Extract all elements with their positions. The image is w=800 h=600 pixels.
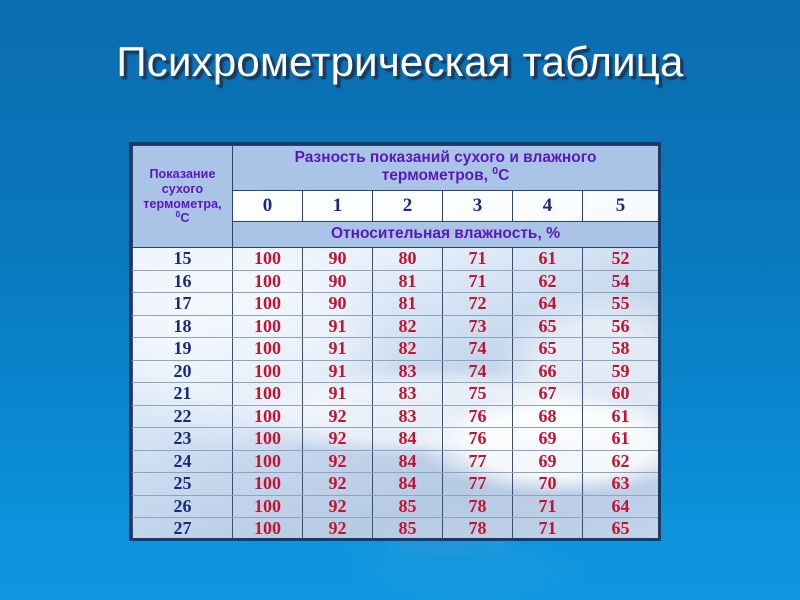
cell-humidity-value: 77 bbox=[443, 450, 513, 473]
cell-humidity-value: 58 bbox=[583, 338, 659, 361]
cell-humidity-value: 71 bbox=[443, 248, 513, 271]
cell-humidity-value: 75 bbox=[443, 383, 513, 406]
degree-symbol: 0 bbox=[176, 209, 181, 219]
span-line-1: Разность показаний сухого и влажного bbox=[239, 149, 652, 167]
cell-humidity-value: 76 bbox=[443, 405, 513, 428]
table-row: 191009182746558 bbox=[133, 338, 659, 361]
cell-humidity-value: 100 bbox=[233, 495, 303, 518]
cell-humidity-value: 74 bbox=[443, 360, 513, 383]
cell-humidity-value: 64 bbox=[513, 293, 583, 316]
cell-humidity-value: 71 bbox=[513, 518, 583, 541]
header-thermometer-difference: Разность показаний сухого и влажного тер… bbox=[233, 146, 659, 191]
cell-humidity-value: 59 bbox=[583, 360, 659, 383]
spacer-cell bbox=[233, 540, 303, 541]
cell-humidity-value: 84 bbox=[373, 428, 443, 451]
header-dry-thermometer-reading: Показание сухого термометра, 0С bbox=[133, 146, 233, 248]
cell-dry-temperature: 18 bbox=[133, 315, 233, 338]
cell-humidity-value: 52 bbox=[583, 248, 659, 271]
cell-humidity-value: 65 bbox=[513, 315, 583, 338]
psychrometric-table-frame: Показание сухого термометра, 0С Разность… bbox=[129, 142, 661, 541]
cell-humidity-value: 100 bbox=[233, 473, 303, 496]
cell-humidity-value: 90 bbox=[303, 270, 373, 293]
cell-dry-temperature: 19 bbox=[133, 338, 233, 361]
cell-humidity-value: 71 bbox=[443, 270, 513, 293]
table-row: 271009285787165 bbox=[133, 518, 659, 541]
cell-humidity-value: 92 bbox=[303, 495, 373, 518]
column-header-4: 4 bbox=[513, 190, 583, 221]
cell-humidity-value: 100 bbox=[233, 270, 303, 293]
corner-line-1: Показание bbox=[137, 167, 228, 182]
cell-dry-temperature: 25 bbox=[133, 473, 233, 496]
cell-humidity-value: 92 bbox=[303, 518, 373, 541]
cell-humidity-value: 65 bbox=[513, 338, 583, 361]
cell-dry-temperature: 24 bbox=[133, 450, 233, 473]
table-row: 171009081726455 bbox=[133, 293, 659, 316]
cell-humidity-value: 61 bbox=[583, 405, 659, 428]
cell-humidity-value: 91 bbox=[303, 360, 373, 383]
cell-humidity-value: 70 bbox=[513, 473, 583, 496]
percent-symbol: % bbox=[546, 225, 560, 242]
table-row: 211009183756760 bbox=[133, 383, 659, 406]
column-header-5: 5 bbox=[583, 190, 659, 221]
spacer-cell bbox=[133, 540, 233, 541]
cell-humidity-value: 78 bbox=[443, 495, 513, 518]
cell-humidity-value: 83 bbox=[373, 360, 443, 383]
corner-line-3: термометра, bbox=[137, 197, 228, 212]
cell-humidity-value: 76 bbox=[443, 428, 513, 451]
table-row: 241009284776962 bbox=[133, 450, 659, 473]
corner-line-2: сухого bbox=[137, 182, 228, 197]
column-header-1: 1 bbox=[303, 190, 373, 221]
cell-humidity-value: 84 bbox=[373, 473, 443, 496]
header-relative-humidity: Относительная влажность, % bbox=[233, 221, 659, 248]
span-line-2: термометров, 0С bbox=[239, 167, 652, 185]
cell-humidity-value: 90 bbox=[303, 248, 373, 271]
table-body: 1510090807161521610090817162541710090817… bbox=[133, 248, 659, 541]
cell-humidity-value: 85 bbox=[373, 518, 443, 541]
cell-humidity-value: 71 bbox=[513, 495, 583, 518]
cell-humidity-value: 100 bbox=[233, 248, 303, 271]
cell-humidity-value: 85 bbox=[373, 495, 443, 518]
cell-humidity-value: 92 bbox=[303, 473, 373, 496]
column-header-2: 2 bbox=[373, 190, 443, 221]
table-row: 251009284777063 bbox=[133, 473, 659, 496]
humidity-label-text: Относительная влажность, bbox=[331, 225, 546, 242]
cell-humidity-value: 69 bbox=[513, 450, 583, 473]
degree-symbol: 0 bbox=[492, 165, 498, 177]
spacer-cell bbox=[443, 540, 513, 541]
cell-humidity-value: 61 bbox=[513, 248, 583, 271]
cell-humidity-value: 64 bbox=[583, 495, 659, 518]
table-row: 201009183746659 bbox=[133, 360, 659, 383]
cell-humidity-value: 82 bbox=[373, 315, 443, 338]
cell-humidity-value: 100 bbox=[233, 405, 303, 428]
cell-humidity-value: 100 bbox=[233, 383, 303, 406]
cell-humidity-value: 100 bbox=[233, 338, 303, 361]
cell-humidity-value: 100 bbox=[233, 450, 303, 473]
cell-humidity-value: 62 bbox=[583, 450, 659, 473]
cell-humidity-value: 91 bbox=[303, 338, 373, 361]
spacer-cell bbox=[583, 540, 659, 541]
spacer-cell bbox=[303, 540, 373, 541]
cell-dry-temperature: 22 bbox=[133, 405, 233, 428]
cell-humidity-value: 92 bbox=[303, 450, 373, 473]
cell-humidity-value: 100 bbox=[233, 360, 303, 383]
cell-humidity-value: 67 bbox=[513, 383, 583, 406]
spacer-cell bbox=[513, 540, 583, 541]
table-bottom-spacer bbox=[133, 540, 659, 541]
cell-humidity-value: 100 bbox=[233, 293, 303, 316]
cell-humidity-value: 55 bbox=[583, 293, 659, 316]
table-head: Показание сухого термометра, 0С Разность… bbox=[133, 146, 659, 248]
page-title: Психрометрическая таблица bbox=[0, 38, 800, 86]
cell-humidity-value: 84 bbox=[373, 450, 443, 473]
column-header-3: 3 bbox=[443, 190, 513, 221]
cell-dry-temperature: 26 bbox=[133, 495, 233, 518]
cell-humidity-value: 83 bbox=[373, 405, 443, 428]
cell-humidity-value: 61 bbox=[583, 428, 659, 451]
cell-humidity-value: 62 bbox=[513, 270, 583, 293]
cell-dry-temperature: 23 bbox=[133, 428, 233, 451]
cell-dry-temperature: 21 bbox=[133, 383, 233, 406]
cell-humidity-value: 81 bbox=[373, 270, 443, 293]
table-row: 151009080716152 bbox=[133, 248, 659, 271]
spacer-cell bbox=[373, 540, 443, 541]
cell-humidity-value: 92 bbox=[303, 405, 373, 428]
cell-humidity-value: 90 bbox=[303, 293, 373, 316]
cell-humidity-value: 73 bbox=[443, 315, 513, 338]
cell-humidity-value: 83 bbox=[373, 383, 443, 406]
cell-humidity-value: 74 bbox=[443, 338, 513, 361]
cell-dry-temperature: 16 bbox=[133, 270, 233, 293]
cell-humidity-value: 60 bbox=[583, 383, 659, 406]
cell-humidity-value: 100 bbox=[233, 428, 303, 451]
cell-humidity-value: 63 bbox=[583, 473, 659, 496]
column-header-0: 0 bbox=[233, 190, 303, 221]
table-row: 221009283766861 bbox=[133, 405, 659, 428]
cell-dry-temperature: 17 bbox=[133, 293, 233, 316]
table-row: 181009182736556 bbox=[133, 315, 659, 338]
cell-humidity-value: 54 bbox=[583, 270, 659, 293]
cell-dry-temperature: 20 bbox=[133, 360, 233, 383]
cell-humidity-value: 82 bbox=[373, 338, 443, 361]
psychrometric-table: Показание сухого термометра, 0С Разность… bbox=[132, 145, 659, 541]
cell-humidity-value: 100 bbox=[233, 518, 303, 541]
cell-humidity-value: 56 bbox=[583, 315, 659, 338]
cell-humidity-value: 69 bbox=[513, 428, 583, 451]
cell-humidity-value: 81 bbox=[373, 293, 443, 316]
cell-dry-temperature: 27 bbox=[133, 518, 233, 541]
cell-humidity-value: 78 bbox=[443, 518, 513, 541]
cell-humidity-value: 91 bbox=[303, 383, 373, 406]
cell-humidity-value: 92 bbox=[303, 428, 373, 451]
cell-humidity-value: 66 bbox=[513, 360, 583, 383]
table-row: 261009285787164 bbox=[133, 495, 659, 518]
cell-humidity-value: 65 bbox=[583, 518, 659, 541]
corner-line-4: 0С bbox=[137, 211, 228, 226]
cell-humidity-value: 100 bbox=[233, 315, 303, 338]
header-row-title: Показание сухого термометра, 0С Разность… bbox=[133, 146, 659, 191]
cell-humidity-value: 91 bbox=[303, 315, 373, 338]
cell-dry-temperature: 15 bbox=[133, 248, 233, 271]
table-row: 161009081716254 bbox=[133, 270, 659, 293]
cell-humidity-value: 68 bbox=[513, 405, 583, 428]
cell-humidity-value: 77 bbox=[443, 473, 513, 496]
cell-humidity-value: 72 bbox=[443, 293, 513, 316]
cell-humidity-value: 80 bbox=[373, 248, 443, 271]
table-row: 231009284766961 bbox=[133, 428, 659, 451]
